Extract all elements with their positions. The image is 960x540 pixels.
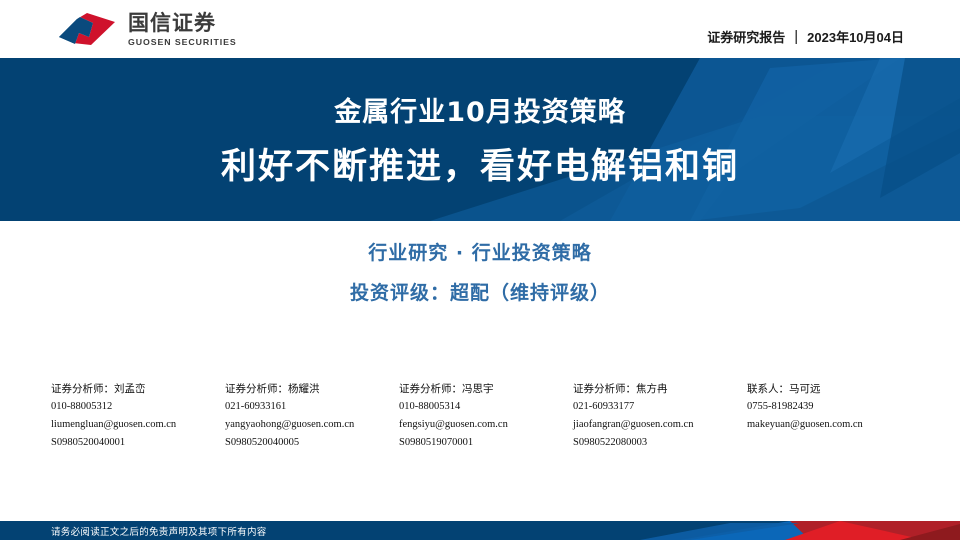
analyst-phone: 010-88005314 bbox=[399, 402, 573, 413]
analyst-column: 联系人：马可远 0755-81982439 makeyuan@guosen.co… bbox=[747, 384, 921, 449]
analyst-email: yangyaohong@guosen.com.cn bbox=[225, 420, 399, 431]
analyst-column: 证券分析师：焦方冉 021-60933177 jiaofangran@guose… bbox=[573, 384, 747, 449]
analyst-name: 证券分析师：冯思宇 bbox=[399, 384, 573, 395]
analyst-phone: 021-60933161 bbox=[225, 402, 399, 413]
analyst-name: 证券分析师：杨耀洪 bbox=[225, 384, 399, 395]
report-date: 2023年10月04日 bbox=[807, 27, 904, 46]
header-separator: | bbox=[794, 28, 798, 45]
analyst-phone: 010-88005312 bbox=[51, 402, 225, 413]
analyst-email: fengsiyu@guosen.com.cn bbox=[399, 420, 573, 431]
brand-name-cn: 国信证券 bbox=[128, 13, 234, 34]
guosen-logo-mark-icon bbox=[57, 11, 119, 49]
analyst-license: S0980520040005 bbox=[225, 438, 399, 449]
report-type-label: 证券研究报告 bbox=[707, 27, 785, 46]
analyst-column: 证券分析师：刘孟峦 010-88005312 liumengluan@guose… bbox=[51, 384, 225, 449]
report-title-line-1: 金属行业10月投资策略 bbox=[334, 90, 626, 129]
title-banner: 金属行业10月投资策略 利好不断推进，看好电解铝和铜 bbox=[0, 58, 960, 221]
analyst-email: liumengluan@guosen.com.cn bbox=[51, 420, 225, 431]
footer-disclaimer: 请务必阅读正文之后的免责声明及其项下所有内容 bbox=[51, 521, 267, 540]
analyst-name: 证券分析师：刘孟峦 bbox=[51, 384, 225, 395]
page-header: 国信证券 GUOSEN SECURITIES 证券研究报告 | 2023年10月… bbox=[0, 0, 960, 58]
analyst-contacts: 证券分析师：刘孟峦 010-88005312 liumengluan@guose… bbox=[51, 384, 921, 449]
analyst-license: S0980520040001 bbox=[51, 438, 225, 449]
brand-logo: 国信证券 GUOSEN SECURITIES bbox=[57, 11, 234, 49]
analyst-name: 证券分析师：焦方冉 bbox=[573, 384, 747, 395]
brand-name-en: GUOSEN SECURITIES bbox=[128, 38, 237, 47]
contact-phone: 0755-81982439 bbox=[747, 402, 921, 413]
analyst-license: S0980519070001 bbox=[399, 438, 573, 449]
analyst-phone: 021-60933177 bbox=[573, 402, 747, 413]
brand-wordmark: 国信证券 GUOSEN SECURITIES bbox=[128, 13, 234, 47]
analyst-email: jiaofangran@guosen.com.cn bbox=[573, 420, 747, 431]
research-category: 行业研究 · 行业投资策略 bbox=[368, 238, 591, 265]
analyst-column: 证券分析师：杨耀洪 021-60933161 yangyaohong@guose… bbox=[225, 384, 399, 449]
analyst-column: 证券分析师：冯思宇 010-88005314 fengsiyu@guosen.c… bbox=[399, 384, 573, 449]
header-meta: 证券研究报告 | 2023年10月04日 bbox=[707, 27, 904, 46]
page-footer: 请务必阅读正文之后的免责声明及其项下所有内容 bbox=[0, 521, 960, 540]
investment-rating: 投资评级：超配（维持评级） bbox=[350, 278, 610, 305]
contact-email: makeyuan@guosen.com.cn bbox=[747, 420, 921, 431]
analyst-license: S0980522080003 bbox=[573, 438, 747, 449]
banner-titles: 金属行业10月投资策略 利好不断推进，看好电解铝和铜 bbox=[0, 58, 960, 221]
subtitle-block: 行业研究 · 行业投资策略 投资评级：超配（维持评级） bbox=[0, 238, 960, 305]
contact-name: 联系人：马可远 bbox=[747, 384, 921, 395]
report-title-line-2: 利好不断推进，看好电解铝和铜 bbox=[221, 138, 739, 189]
